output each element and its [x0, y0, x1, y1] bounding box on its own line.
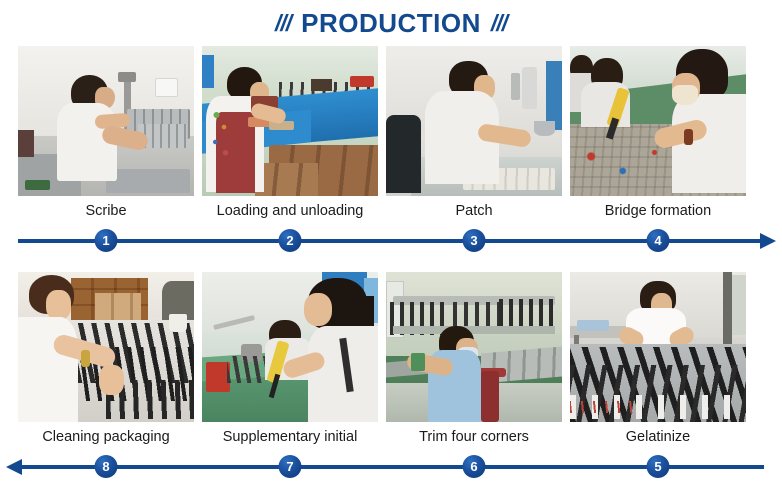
step-badge-6[interactable]: 6 — [463, 455, 486, 478]
arrow-left-icon — [6, 459, 22, 475]
step-label-5: Gelatinize — [570, 422, 746, 452]
step-badge-4[interactable]: 4 — [647, 229, 670, 252]
photo-card-trim-four-corners[interactable] — [386, 272, 562, 422]
process-row-1: Scribe Loading and unloading Patch Bridg… — [0, 46, 782, 272]
photo-card-supplementary-initial[interactable] — [202, 272, 378, 422]
arrow-right-icon — [760, 233, 776, 249]
photo-workers-bridge-forming-line — [570, 46, 746, 196]
step-label-4: Bridge formation — [570, 196, 746, 226]
photo-card-gelatinize[interactable] — [570, 272, 746, 422]
photo-worker-trimming-at-rack — [386, 272, 562, 422]
row-2-axis: 8 7 6 5 — [0, 452, 782, 482]
slash-right-icon: /// — [491, 12, 507, 35]
page-header: /// PRODUCTION /// — [0, 0, 782, 46]
step-badge-7[interactable]: 7 — [279, 455, 302, 478]
photo-worker-loading-wooden-fixtures — [202, 46, 378, 196]
step-label-8: Cleaning packaging — [18, 422, 194, 452]
step-badge-1[interactable]: 1 — [95, 229, 118, 252]
step-label-2: Loading and unloading — [202, 196, 378, 226]
photo-workers-soldering-station — [202, 272, 378, 422]
row-2-labels: Cleaning packaging Supplementary initial… — [0, 422, 782, 452]
photo-card-cleaning-packaging[interactable] — [18, 272, 194, 422]
step-badge-5[interactable]: 5 — [647, 455, 670, 478]
photo-card-scribe[interactable] — [18, 46, 194, 196]
photo-card-bridge-formation[interactable] — [570, 46, 746, 196]
step-label-7: Supplementary initial — [202, 422, 378, 452]
photo-worker-cleaning-and-packing — [18, 272, 194, 422]
slash-left-icon: /// — [275, 12, 291, 35]
row-1-labels: Scribe Loading and unloading Patch Bridg… — [0, 196, 782, 226]
step-label-6: Trim four corners — [386, 422, 562, 452]
step-badge-3[interactable]: 3 — [463, 229, 486, 252]
row-1-photos — [0, 46, 782, 196]
photo-worker-applying-patch-strip — [386, 46, 562, 196]
production-infographic: /// PRODUCTION /// — [0, 0, 782, 498]
step-label-3: Patch — [386, 196, 562, 226]
step-label-1: Scribe — [18, 196, 194, 226]
step-badge-8[interactable]: 8 — [95, 455, 118, 478]
photo-card-patch[interactable] — [386, 46, 562, 196]
page-title: PRODUCTION — [301, 10, 481, 36]
photo-worker-scribing-panels — [18, 46, 194, 196]
row-1-axis: 1 2 3 4 — [0, 226, 782, 256]
step-badge-2[interactable]: 2 — [279, 229, 302, 252]
row-2-photos — [0, 272, 782, 422]
process-row-2: Cleaning packaging Supplementary initial… — [0, 272, 782, 498]
photo-worker-gelatinizing-harnesses — [570, 272, 746, 422]
photo-card-loading-and-unloading[interactable] — [202, 46, 378, 196]
